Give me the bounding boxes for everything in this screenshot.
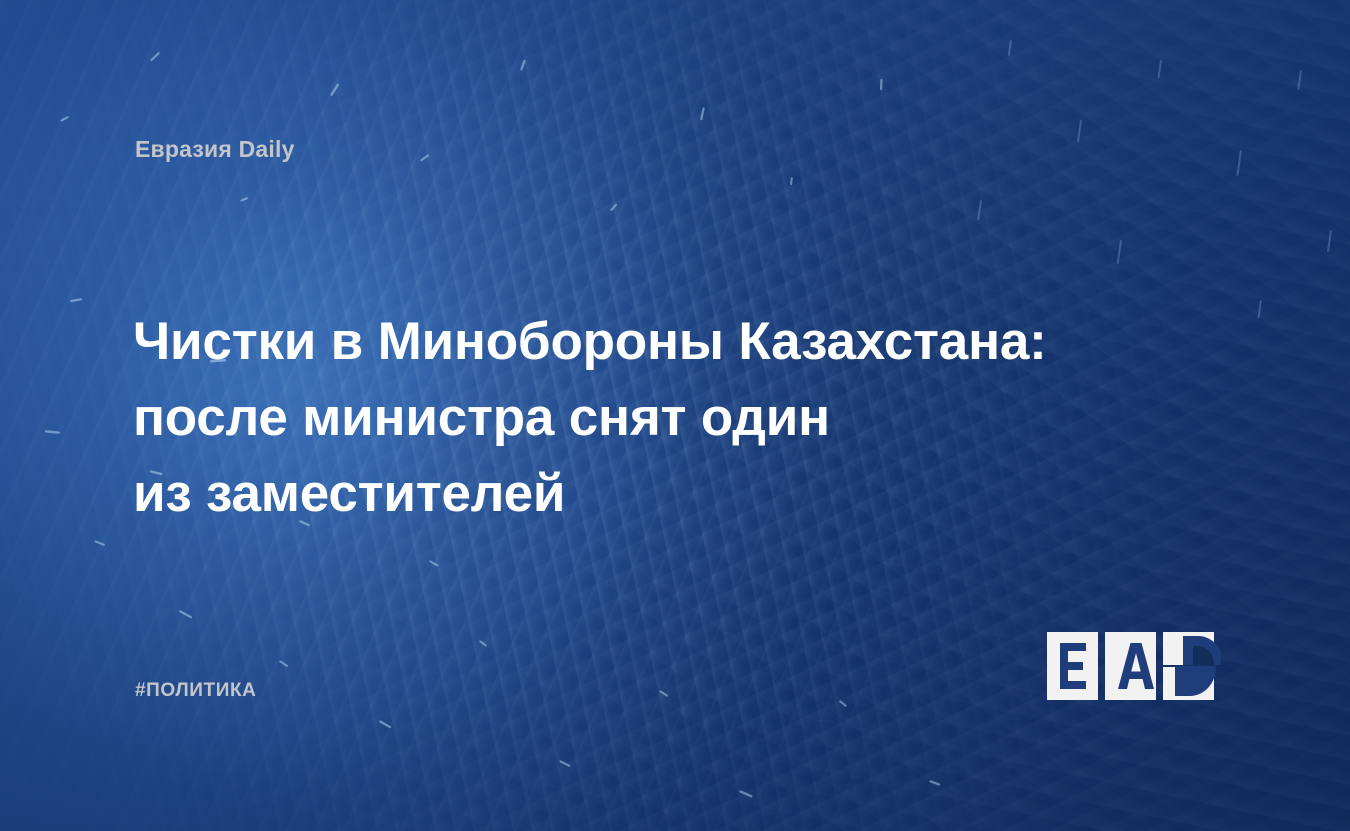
site-brand-wordmark[interactable]: Евразия Daily — [135, 138, 295, 161]
card-content: Евразия Daily Чистки в Минобороны Казахс… — [0, 0, 1350, 831]
ead-logo[interactable] — [1046, 630, 1221, 702]
category-tag[interactable]: #ПОЛИТИКА — [135, 681, 257, 700]
page-title: Чистки в Минобороны Казахстана: после ми… — [133, 304, 1133, 532]
logo-letter-e — [1060, 643, 1086, 689]
news-card: Евразия Daily Чистки в Минобороны Казахс… — [0, 0, 1350, 831]
